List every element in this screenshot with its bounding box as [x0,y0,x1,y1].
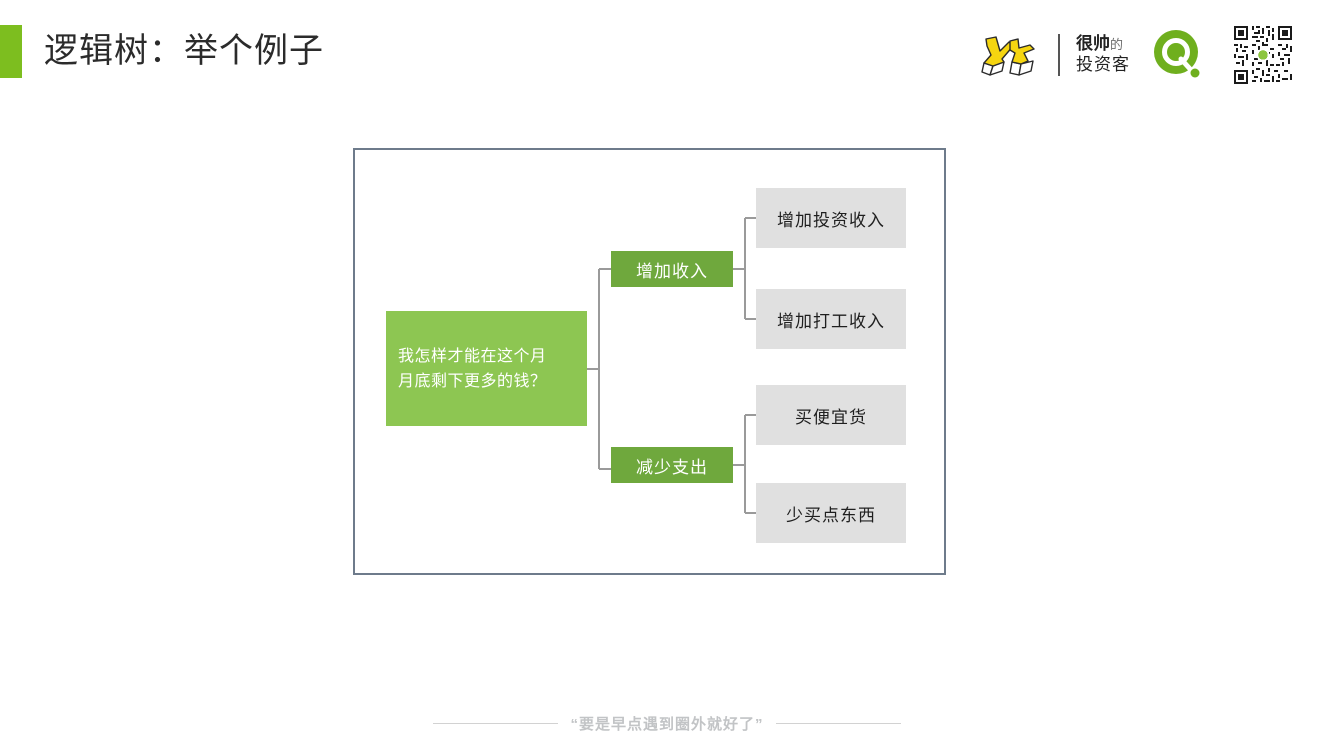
tree-node-root-label: 我怎样才能在这个月 月底剩下更多的钱？ [386,344,587,394]
footer-rule-left [433,723,558,724]
tree-node-root-line1: 我怎样才能在这个月 [398,344,575,369]
tree-node-leaf-buy-less[interactable]: 少买点东西 [756,483,906,543]
tree-node-leaf-work-income-label: 增加打工收入 [756,307,906,332]
tree-node-root-line2: 月底剩下更多的钱？ [398,369,575,394]
shuai-yellow-3d-logo-icon [976,29,1042,81]
brand-cluster: 很帅的 投资客 [976,24,1292,86]
tree-node-branch-increase-income-label: 增加收入 [611,257,733,282]
tree-node-leaf-investment-income[interactable]: 增加投资收入 [756,188,906,248]
tree-node-leaf-investment-income-label: 增加投资收入 [756,206,906,231]
tree-node-leaf-buy-cheaper[interactable]: 买便宜货 [756,385,906,445]
q-circle-logo-icon [1150,27,1206,83]
footer-tagline: “要是早点遇到圈外就好了” [570,713,763,734]
footer-rule-right [776,723,901,724]
logic-tree-diagram: 我怎样才能在这个月 月底剩下更多的钱？ 增加收入 减少支出 增加投资收入 增加打… [353,148,946,575]
tree-node-branch-increase-income[interactable]: 增加收入 [611,251,733,287]
brand-divider [1058,34,1060,76]
brand-line1-bold: 很帅 [1076,34,1110,53]
tree-node-root[interactable]: 我怎样才能在这个月 月底剩下更多的钱？ [386,311,587,426]
brand-wordmark: 很帅的 投资客 [1076,34,1130,75]
tree-node-branch-reduce-expense-label: 减少支出 [611,453,733,478]
page-title: 逻辑树：举个例子 [44,27,324,75]
tree-node-leaf-work-income[interactable]: 增加打工收入 [756,289,906,349]
tree-node-leaf-buy-less-label: 少买点东西 [756,501,906,526]
brand-line2: 投资客 [1076,55,1130,76]
title-accent-bar [0,25,22,78]
tree-node-leaf-buy-cheaper-label: 买便宜货 [756,403,906,428]
slide-footer: “要是早点遇到圈外就好了” [0,713,1334,734]
tree-node-branch-reduce-expense[interactable]: 减少支出 [611,447,733,483]
slide-canvas: 逻辑树：举个例子 很帅的 投资客 [0,0,1334,750]
qr-code-icon [1234,26,1292,84]
brand-line1-soft: 的 [1110,37,1123,52]
